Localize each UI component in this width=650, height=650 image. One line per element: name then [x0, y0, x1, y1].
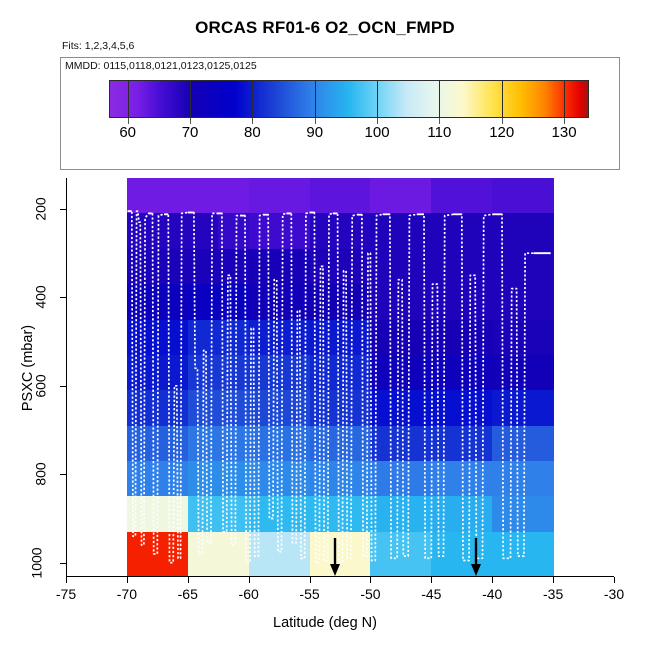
colorbar-tick-label: 110 — [427, 124, 451, 141]
x-tick — [553, 577, 554, 583]
x-tick — [127, 577, 128, 583]
y-tick — [60, 297, 66, 298]
colorbar-tick-mark — [128, 118, 129, 124]
colorbar-tick-mark — [377, 118, 378, 124]
y-tick — [60, 474, 66, 475]
x-tick-label: -75 — [56, 586, 76, 602]
x-tick-label: -50 — [360, 586, 380, 602]
colorbar-tick-mark — [190, 118, 191, 124]
colorbar-tick-label: 70 — [182, 124, 199, 141]
colorbar-wrap: 60708090100110120130 — [109, 80, 589, 118]
y-axis-line — [66, 178, 67, 576]
x-axis-title: Latitude (deg N) — [0, 615, 650, 631]
x-tick-label: -65 — [178, 586, 198, 602]
x-tick-label: -30 — [604, 586, 624, 602]
colorbar-gradient — [109, 80, 589, 118]
colorbar-tick-mark — [502, 118, 503, 124]
colorbar-tick-label: 130 — [552, 124, 577, 141]
colorbar-tick-mark — [439, 118, 440, 124]
figure-root: ORCAS RF01-6 O2_OCN_FMPD Fits: 1,2,3,4,5… — [0, 0, 650, 650]
x-tick — [66, 577, 67, 583]
x-tick — [370, 577, 371, 583]
x-tick — [188, 577, 189, 583]
colorbar-tick-label: 100 — [365, 124, 390, 141]
y-tick-label: 1000 — [21, 555, 52, 571]
x-tick-label: -40 — [482, 586, 502, 602]
y-tick — [60, 209, 66, 210]
flight-track-path — [128, 211, 552, 563]
x-tick — [431, 577, 432, 583]
plot-area — [66, 178, 614, 576]
colorbar-tick-mark — [564, 118, 565, 124]
colorbar-tick-label: 120 — [489, 124, 514, 141]
y-tick-label: 800 — [29, 466, 52, 482]
colorbar-legend-box: MMDD: 0115,0118,0121,0123,0125,0125 6070… — [60, 57, 620, 170]
colorbar-tick-label: 90 — [306, 124, 323, 141]
profile-marker-1 — [329, 538, 341, 581]
colorbar-tick-label: 60 — [119, 124, 136, 141]
x-tick-label: -60 — [239, 586, 259, 602]
fits-annotation: Fits: 1,2,3,4,5,6 — [62, 40, 134, 52]
profile-marker-2 — [470, 538, 482, 581]
y-axis-title: PSXC (mbar) — [20, 278, 36, 458]
y-tick — [60, 386, 66, 387]
figure-title: ORCAS RF01-6 O2_OCN_FMPD — [0, 18, 650, 38]
y-tick — [60, 563, 66, 564]
y-tick-label: 200 — [29, 201, 52, 217]
flight-track-line — [66, 178, 614, 576]
colorbar-tick-mark — [315, 118, 316, 124]
x-tick — [614, 577, 615, 583]
colorbar-tick-mark — [252, 118, 253, 124]
x-tick-label: -70 — [117, 586, 137, 602]
x-tick-label: -55 — [299, 586, 319, 602]
x-tick-label: -35 — [543, 586, 563, 602]
x-tick — [492, 577, 493, 583]
x-tick — [310, 577, 311, 583]
x-tick — [249, 577, 250, 583]
x-tick-label: -45 — [421, 586, 441, 602]
mmdd-annotation: MMDD: 0115,0118,0121,0123,0125,0125 — [65, 60, 257, 72]
colorbar-tick-label: 80 — [244, 124, 261, 141]
